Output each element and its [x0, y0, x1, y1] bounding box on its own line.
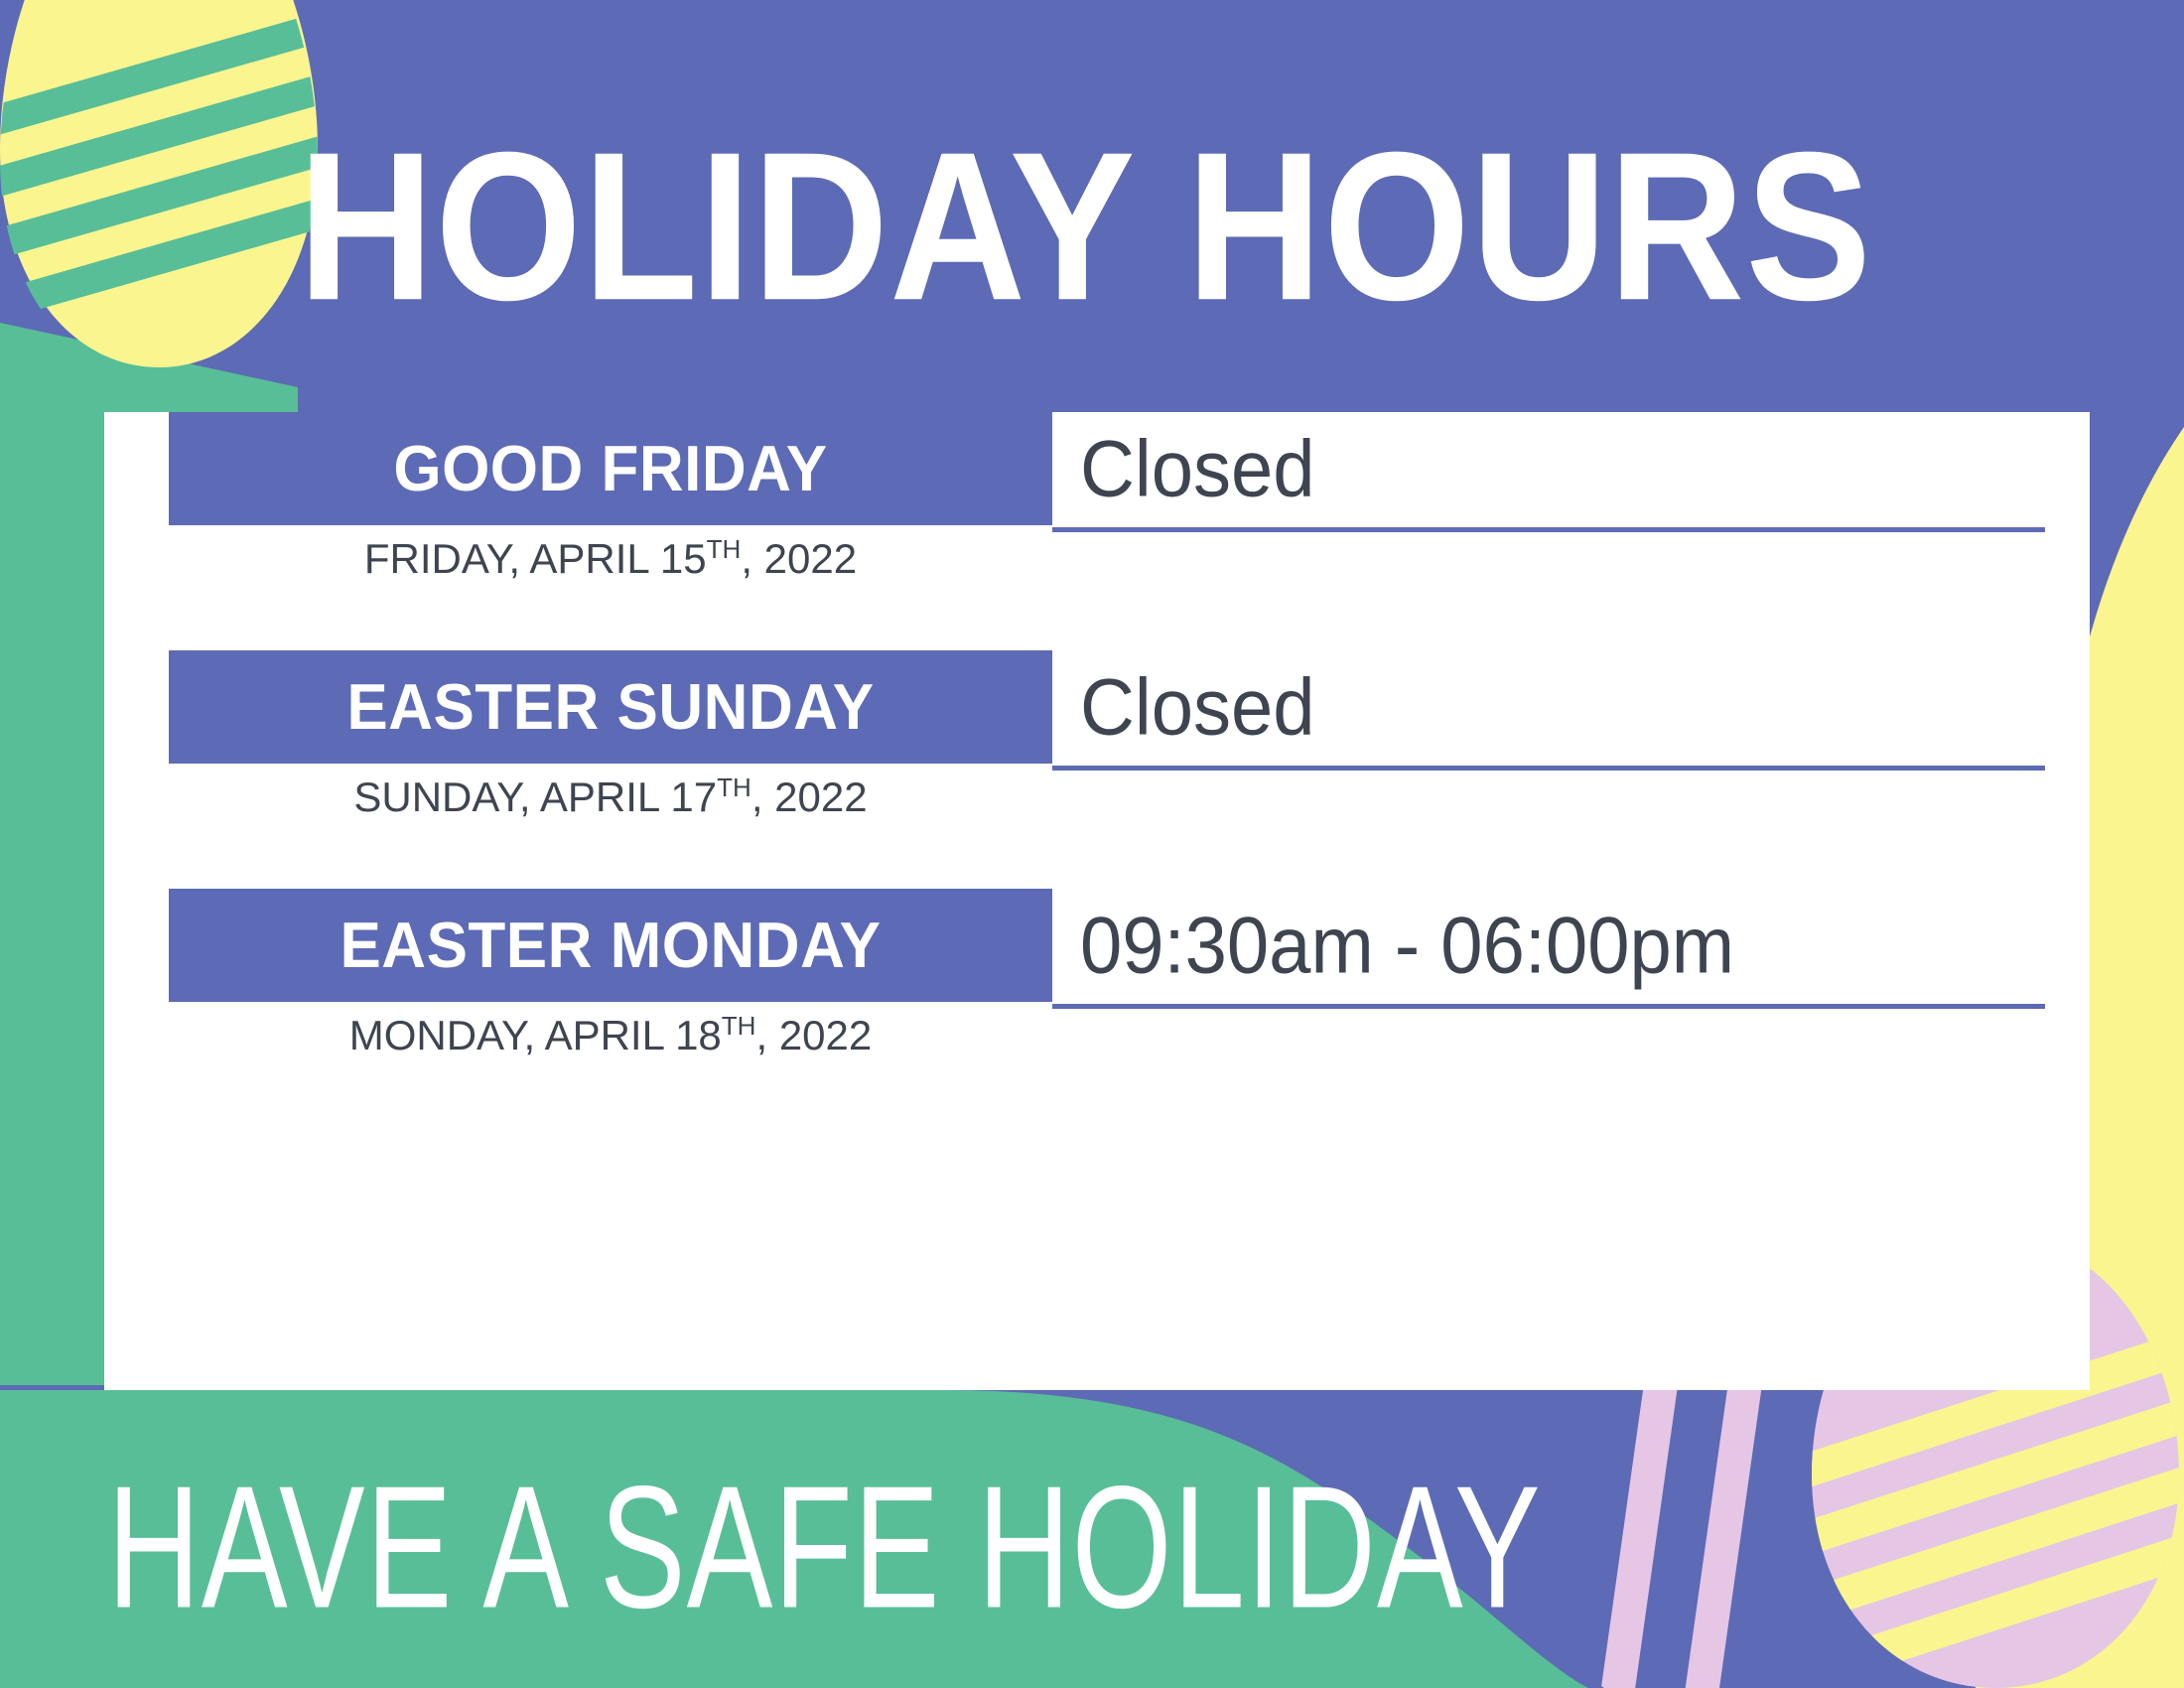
schedule-row: GOOD FRIDAY FRIDAY, APRIL 15TH, 2022 Clo…: [104, 412, 2090, 650]
schedule-row: EASTER SUNDAY SUNDAY, APRIL 17TH, 2022 C…: [104, 650, 2090, 889]
schedule-row: EASTER MONDAY MONDAY, APRIL 18TH, 2022 0…: [104, 889, 2090, 1127]
holiday-date-ordinal: TH: [717, 773, 751, 802]
holiday-hours: Closed: [1052, 647, 2045, 770]
holiday-date-ordinal: TH: [707, 534, 742, 564]
row-label-block: EASTER MONDAY MONDAY, APRIL 18TH, 2022: [169, 889, 1052, 1059]
holiday-date-suffix: , 2022: [755, 1012, 872, 1058]
row-hours-block: 09:30am - 06:00pm: [1052, 889, 2045, 1009]
row-label-block: EASTER SUNDAY SUNDAY, APRIL 17TH, 2022: [169, 650, 1052, 821]
holiday-hours: 09:30am - 06:00pm: [1052, 886, 2045, 1008]
holiday-date: MONDAY, APRIL 18TH, 2022: [169, 1012, 1052, 1059]
holiday-date-prefix: FRIDAY, APRIL 15: [364, 535, 707, 582]
row-label-block: GOOD FRIDAY FRIDAY, APRIL 15TH, 2022: [169, 412, 1052, 583]
holiday-hours: Closed: [1052, 409, 2045, 531]
holiday-date: FRIDAY, APRIL 15TH, 2022: [169, 535, 1052, 583]
holiday-date-prefix: SUNDAY, APRIL 17: [353, 774, 717, 820]
row-hours-block: Closed: [1052, 412, 2045, 532]
holiday-date: SUNDAY, APRIL 17TH, 2022: [169, 774, 1052, 821]
holiday-date-ordinal: TH: [722, 1011, 756, 1041]
holiday-name: GOOD FRIDAY: [393, 432, 827, 506]
holiday-date-prefix: MONDAY, APRIL 18: [349, 1012, 722, 1058]
holiday-name: EASTER SUNDAY: [346, 670, 874, 745]
holiday-name: EASTER MONDAY: [340, 909, 881, 983]
holiday-name-bar: GOOD FRIDAY: [169, 412, 1052, 525]
schedule-list: GOOD FRIDAY FRIDAY, APRIL 15TH, 2022 Clo…: [104, 412, 2090, 1127]
holiday-date-suffix: , 2022: [741, 535, 857, 582]
footer-message: HAVE A SAFE HOLIDAY: [107, 1460, 1542, 1634]
holiday-date-suffix: , 2022: [751, 774, 868, 820]
row-hours-block: Closed: [1052, 650, 2045, 771]
holiday-name-bar: EASTER MONDAY: [169, 889, 1052, 1002]
holiday-hours-poster: HOLIDAY HOURS GOOD FRIDAY FRIDAY, APRIL …: [0, 0, 2184, 1688]
page-title: HOLIDAY HOURS: [298, 121, 1872, 333]
holiday-name-bar: EASTER SUNDAY: [169, 650, 1052, 764]
